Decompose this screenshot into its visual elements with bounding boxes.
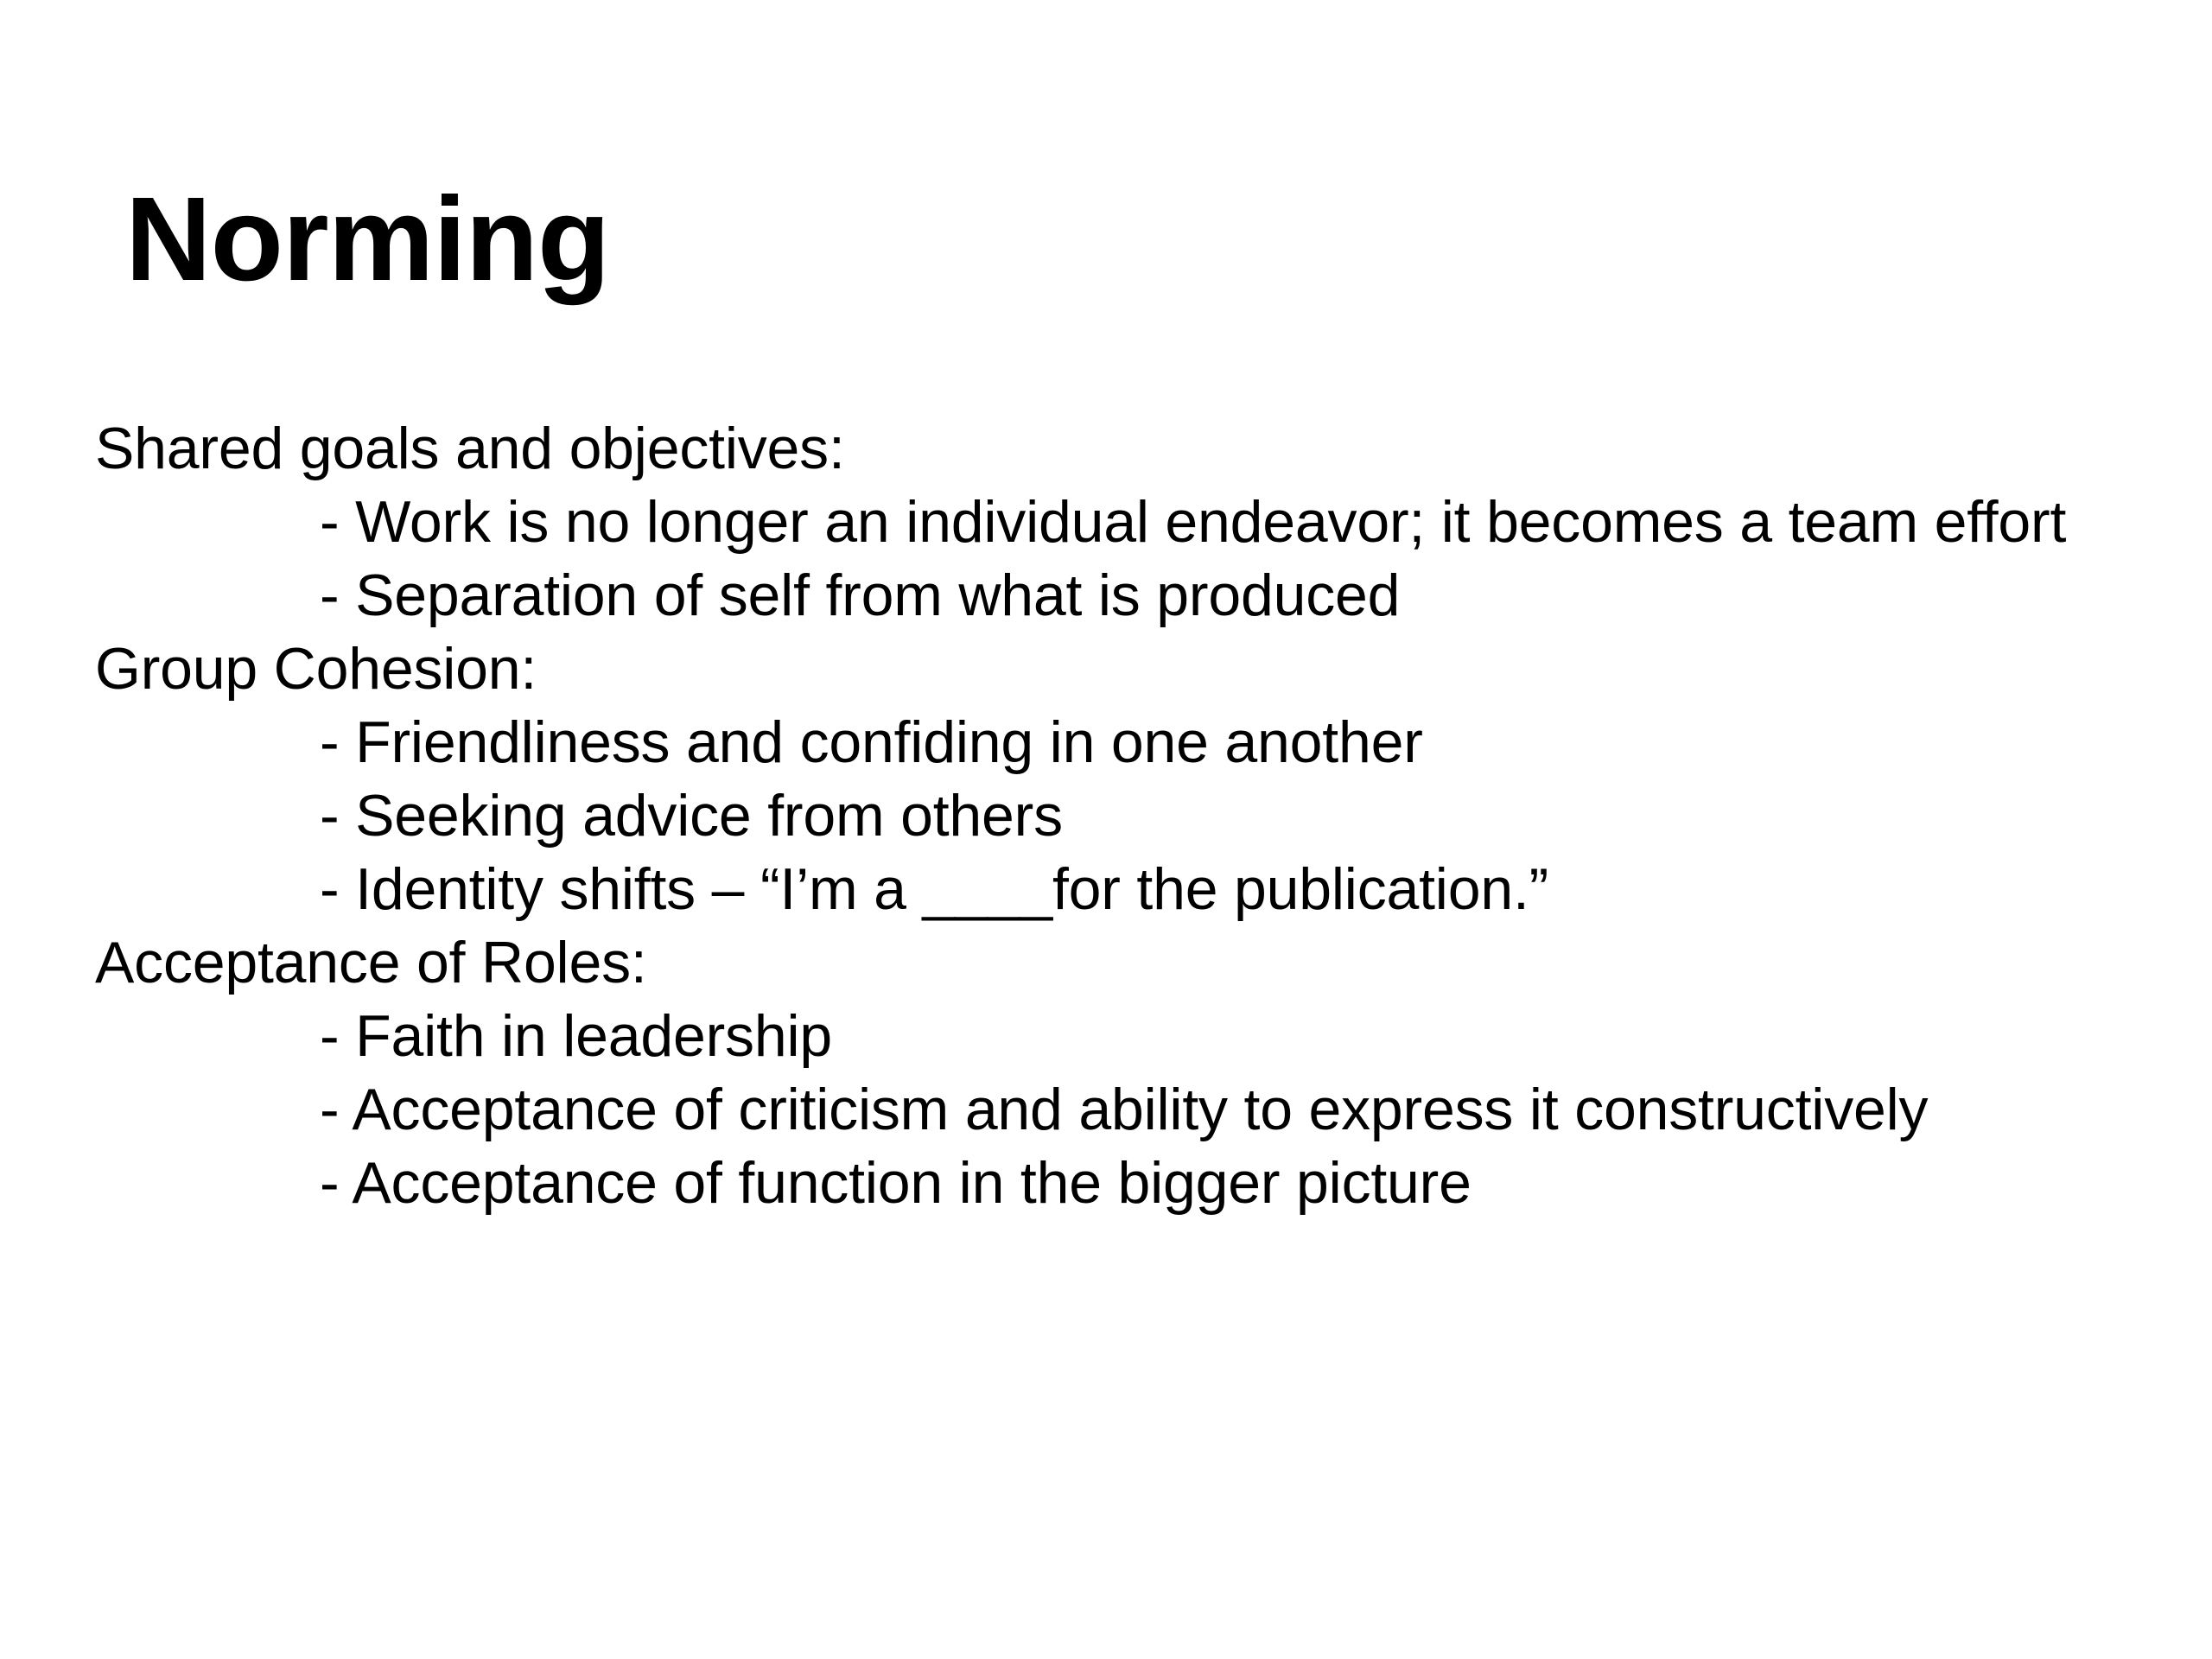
body-line-bullet-acceptance-of-function: - Acceptance of function in the bigger p… <box>95 1147 2169 1220</box>
body-line-bullet-faith-in-leadership: - Faith in leadership <box>95 1000 2169 1073</box>
body-line-bullet-friendliness: - Friendliness and confiding in one anot… <box>95 706 2169 779</box>
body-line-heading-acceptance-of-roles: Acceptance of Roles: <box>95 926 2169 1000</box>
page-title: Norming <box>125 178 609 302</box>
body-line-heading-shared-goals: Shared goals and objectives: <box>95 412 2169 486</box>
body-line-bullet-work-team-effort: - Work is no longer an individual endeav… <box>95 486 2169 559</box>
presentation-slide: Norming Shared goals and objectives: - W… <box>0 0 2212 1659</box>
body-line-bullet-separation-of-self: - Separation of self from what is produc… <box>95 559 2169 632</box>
body-line-bullet-seeking-advice: - Seeking advice from others <box>95 779 2169 853</box>
body-line-bullet-identity-shifts: - Identity shifts – “I’m a ____for the p… <box>95 853 2169 926</box>
body-line-heading-group-cohesion: Group Cohesion: <box>95 632 2169 706</box>
slide-body-content: Shared goals and objectives: - Work is n… <box>95 412 2169 1220</box>
body-line-bullet-acceptance-of-criticism: - Acceptance of criticism and ability to… <box>95 1073 2169 1147</box>
